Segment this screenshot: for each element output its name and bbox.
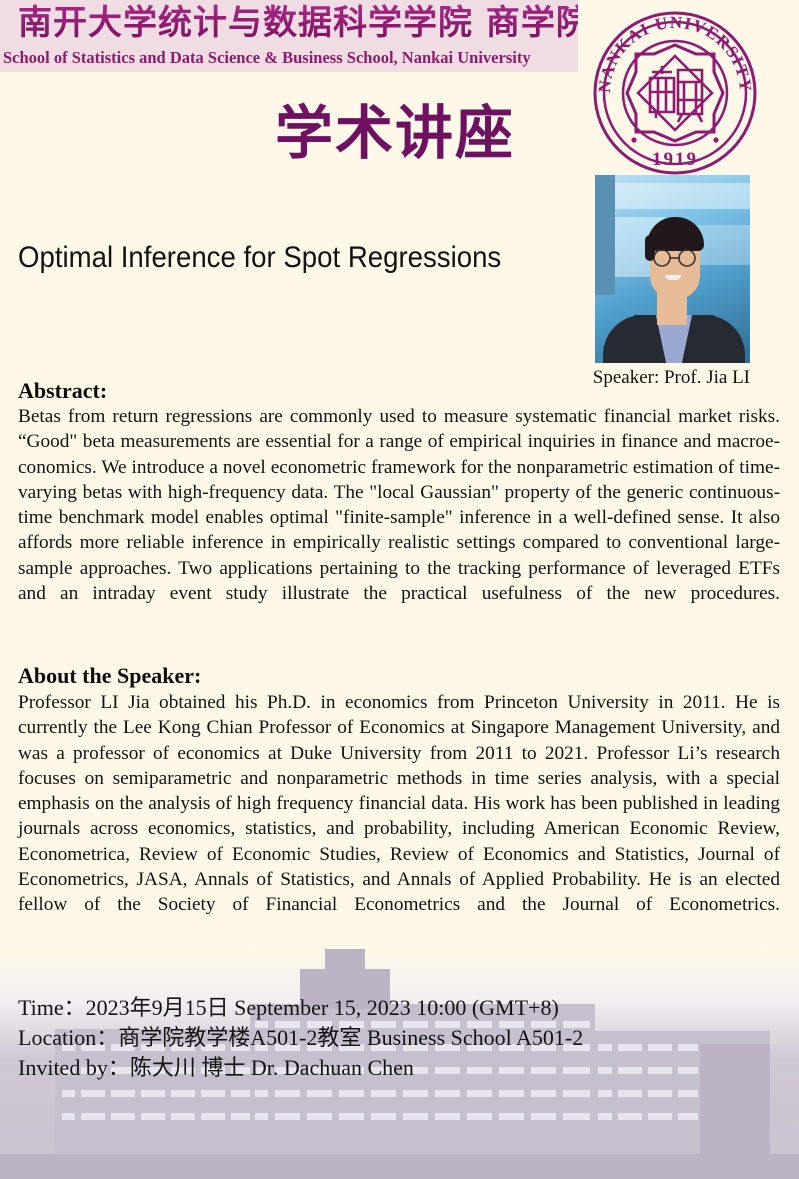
institution-name-chinese: 南开大学统计与数据科学学院 商学院 [18, 3, 578, 43]
abstract-heading: Abstract: [18, 378, 107, 404]
about-speaker-text: Professor LI Jia obtained his Ph.D. in e… [18, 690, 780, 918]
watermark-tower-top [325, 949, 365, 973]
abstract-text: Betas from return regressions are common… [18, 404, 780, 606]
event-invited-by: Invited by：陈大川 博士 Dr. Dachuan Chen [18, 1053, 758, 1083]
talk-title: Optimal Inference for Spot Regressions [18, 240, 515, 276]
seal-year: 1919 [652, 149, 698, 170]
event-details: Time：2023年9月15日 September 15, 2023 10:00… [18, 993, 758, 1083]
event-type-title: 学术讲座 [275, 100, 515, 166]
institution-name-english: School of Statistics and Data Science & … [3, 47, 578, 69]
about-speaker-heading: About the Speaker: [18, 663, 201, 689]
speaker-caption: Speaker: Prof. Jia LI [560, 366, 750, 390]
event-time: Time：2023年9月15日 September 15, 2023 10:00… [18, 993, 758, 1023]
nankai-university-seal-logo: NANKAI UNIVERSITY 1919 [590, 8, 760, 178]
speaker-photo [595, 175, 750, 363]
event-location: Location：商学院教学楼A501-2教室 Business School … [18, 1023, 758, 1053]
